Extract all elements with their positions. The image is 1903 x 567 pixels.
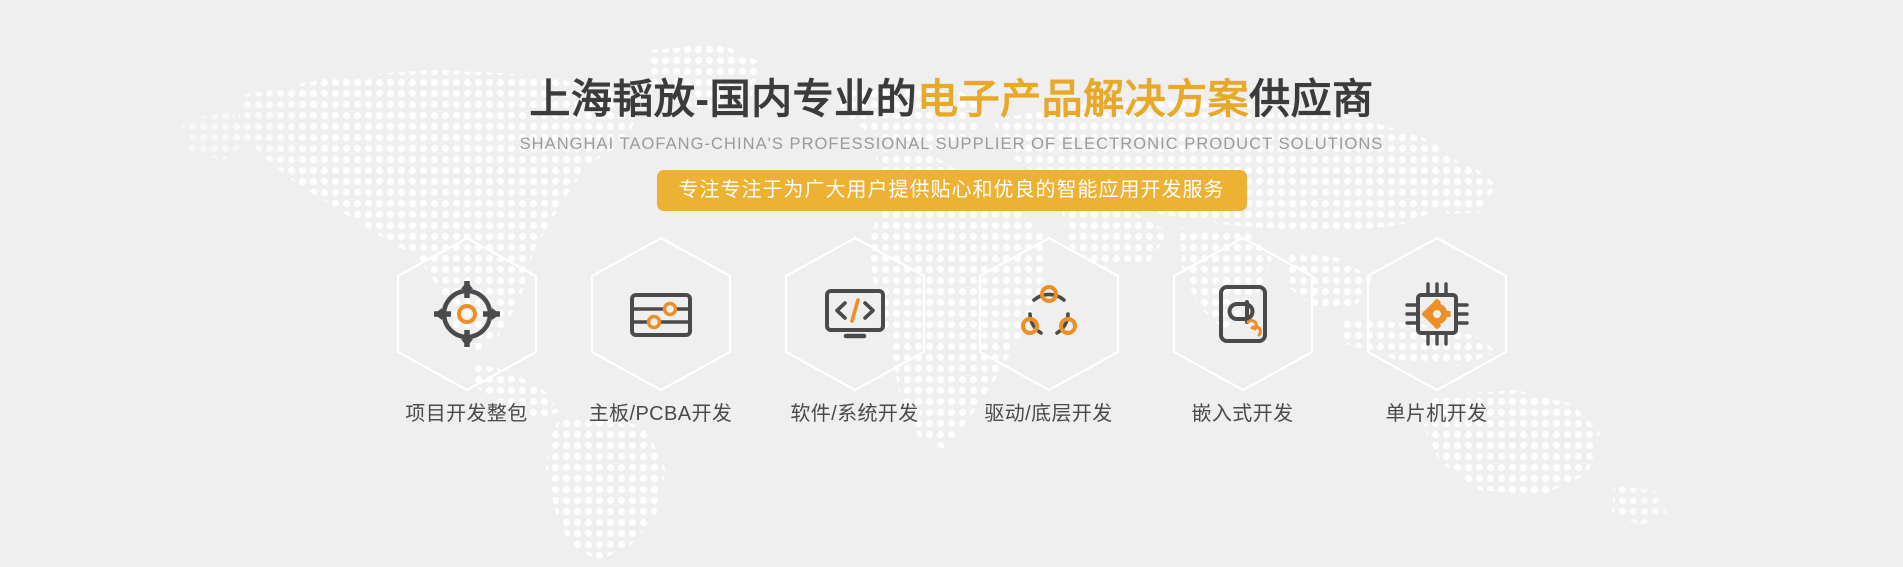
service-label: 嵌入式开发 <box>1192 401 1294 427</box>
service-label: 主板/PCBA开发 <box>589 401 733 427</box>
monitor-code-icon <box>819 278 891 350</box>
target-crosshair-icon <box>431 278 503 350</box>
tagline-badge: 专注专注于为广大用户提供贴心和优良的智能应用开发服务 <box>657 170 1247 211</box>
service-item-mcu[interactable]: 单片机开发 <box>1354 235 1520 427</box>
service-item-software[interactable]: 软件/系统开发 <box>772 235 938 427</box>
service-item-pcba[interactable]: 主板/PCBA开发 <box>578 235 744 427</box>
headline-accent: 电子产品解决方案 <box>917 76 1249 122</box>
service-label: 驱动/底层开发 <box>984 401 1112 427</box>
hexagon-frame <box>977 235 1121 393</box>
service-item-project-package[interactable]: 项目开发整包 <box>384 235 550 427</box>
service-label: 软件/系统开发 <box>790 401 918 427</box>
hexagon-frame <box>589 235 733 393</box>
tagline-container: 专注专注于为广大用户提供贴心和优良的智能应用开发服务 <box>657 170 1247 211</box>
page-title: 上海韬放-国内专业的电子产品解决方案供应商 <box>529 74 1373 124</box>
hexagon-frame <box>395 235 539 393</box>
service-list: 项目开发整包 主板/PCBA开发 <box>384 235 1520 427</box>
headline-suffix: 供应商 <box>1249 76 1374 122</box>
hexagon-frame <box>783 235 927 393</box>
device-link-icon <box>1207 278 1279 350</box>
subheadline: SHANGHAI TAOFANG-CHINA'S PROFESSIONAL SU… <box>520 134 1384 154</box>
service-item-embedded[interactable]: 嵌入式开发 <box>1160 235 1326 427</box>
hexagon-frame <box>1365 235 1509 393</box>
node-network-icon <box>1013 278 1085 350</box>
banner-content: 上海韬放-国内专业的电子产品解决方案供应商 SHANGHAI TAOFANG-C… <box>0 0 1903 567</box>
circuit-board-icon <box>625 278 697 350</box>
chip-gear-icon <box>1401 278 1473 350</box>
hexagon-frame <box>1171 235 1315 393</box>
service-item-driver[interactable]: 驱动/底层开发 <box>966 235 1132 427</box>
service-label: 单片机开发 <box>1386 401 1488 427</box>
service-label: 项目开发整包 <box>405 401 527 427</box>
headline-prefix: 上海韬放-国内专业的 <box>529 76 917 122</box>
hero-banner: 上海韬放-国内专业的电子产品解决方案供应商 SHANGHAI TAOFANG-C… <box>0 0 1903 567</box>
